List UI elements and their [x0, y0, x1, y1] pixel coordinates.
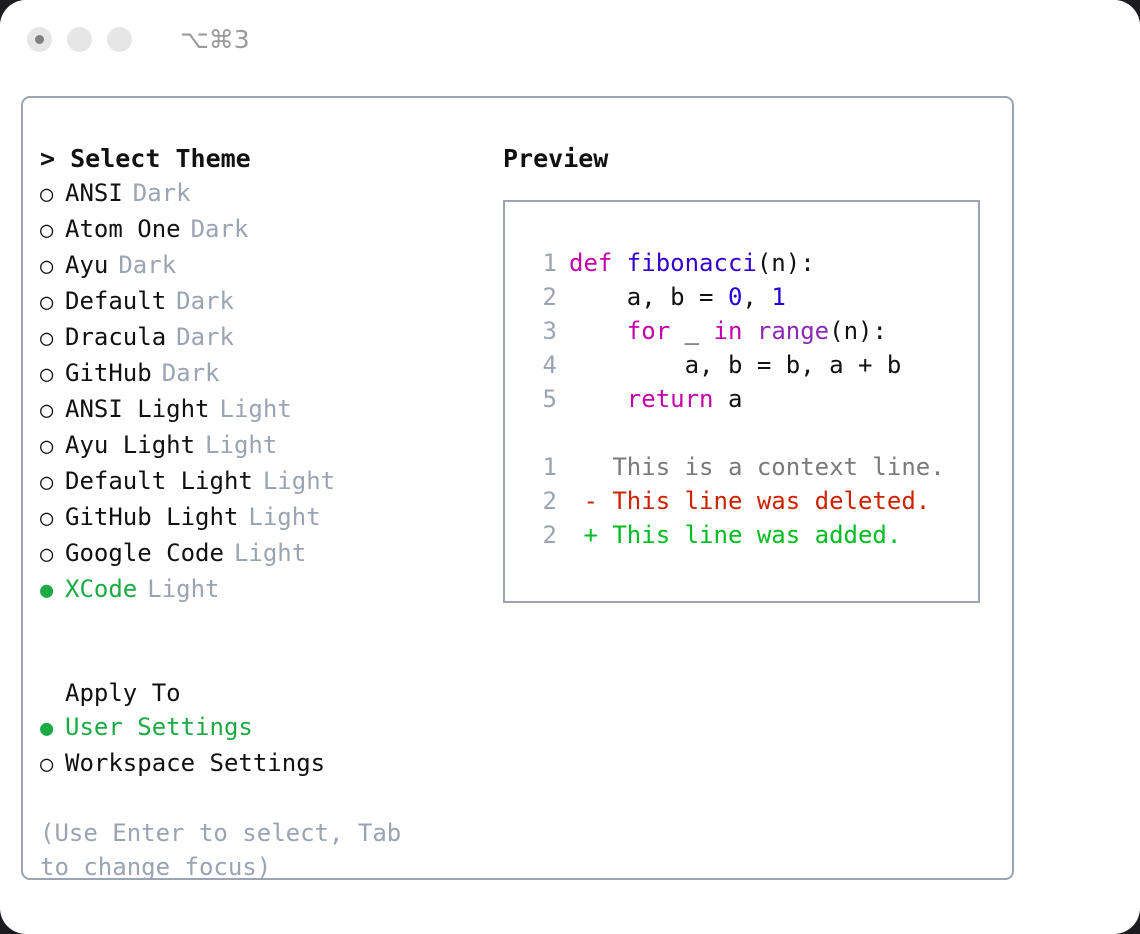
- radio-unselected-icon: ○: [40, 322, 65, 356]
- theme-name: GitHub: [65, 356, 152, 390]
- code-token: return: [627, 385, 714, 413]
- theme-kind-badge: Dark: [162, 356, 220, 390]
- theme-list-item[interactable]: ○ANSIDark: [40, 176, 503, 212]
- code-token: ,: [742, 283, 771, 311]
- code-token: _: [670, 317, 713, 345]
- code-token: (n):: [829, 317, 887, 345]
- window-dot-minimize[interactable]: [67, 27, 92, 52]
- main-panel: > Select Theme ○ANSIDark○Atom OneDark○Ay…: [21, 96, 1014, 880]
- theme-name: GitHub Light: [65, 500, 238, 534]
- window-titlebar: ⌥⌘3: [0, 0, 1140, 78]
- theme-name: Default: [65, 284, 166, 318]
- theme-kind-badge: Dark: [133, 176, 191, 210]
- radio-unselected-icon: ○: [40, 466, 65, 500]
- code-line: 4 a, b = b, a + b: [523, 348, 978, 382]
- theme-kind-badge: Light: [248, 500, 320, 534]
- code-token: 0: [728, 283, 742, 311]
- theme-kind-badge: Dark: [176, 320, 234, 354]
- theme-name: Ayu Light: [65, 428, 195, 462]
- theme-list: ○ANSIDark○Atom OneDark○AyuDark○DefaultDa…: [40, 176, 503, 608]
- preview-heading: Preview: [503, 142, 1012, 176]
- code-token: range: [757, 317, 829, 345]
- code-token: + This line was added.: [569, 521, 901, 549]
- line-number: 2: [523, 280, 557, 314]
- code-token: def: [569, 249, 627, 277]
- theme-kind-badge: Light: [263, 464, 335, 498]
- theme-list-item[interactable]: ○DefaultDark: [40, 284, 503, 320]
- line-number: 3: [523, 314, 557, 348]
- diff-sample: 1 This is a context line.2 - This line w…: [523, 450, 978, 552]
- theme-preview-box: 1def fibonacci(n):2 a, b = 0, 13 for _ i…: [503, 200, 980, 603]
- radio-selected-icon: ●: [40, 574, 65, 608]
- theme-list-item[interactable]: ○AyuDark: [40, 248, 503, 284]
- theme-name: ANSI: [65, 176, 123, 210]
- radio-unselected-icon: ○: [40, 358, 65, 392]
- line-content: def fibonacci(n):: [569, 246, 815, 280]
- code-line: 1def fibonacci(n):: [523, 246, 978, 280]
- theme-selection-column: > Select Theme ○ANSIDark○Atom OneDark○Ay…: [23, 98, 503, 878]
- line-number: 1: [523, 246, 557, 280]
- code-spacer: [523, 416, 978, 450]
- radio-unselected-icon: ○: [40, 502, 65, 536]
- line-number: 1: [523, 450, 557, 484]
- theme-list-item[interactable]: ○ANSI LightLight: [40, 392, 503, 428]
- code-token: fibonacci: [627, 249, 757, 277]
- radio-unselected-icon: ○: [40, 250, 65, 284]
- code-token: a: [714, 385, 743, 413]
- theme-list-item[interactable]: ○Ayu LightLight: [40, 428, 503, 464]
- theme-name: Default Light: [65, 464, 253, 498]
- radio-unselected-icon: ○: [40, 748, 65, 782]
- code-token: 1: [771, 283, 785, 311]
- theme-list-item[interactable]: ○DraculaDark: [40, 320, 503, 356]
- line-content: + This line was added.: [569, 518, 901, 552]
- diff-line: 2 - This line was deleted.: [523, 484, 978, 518]
- window-dot-close[interactable]: [27, 27, 52, 52]
- theme-name: Google Code: [65, 536, 224, 570]
- theme-kind-badge: Dark: [118, 248, 176, 282]
- code-line: 5 return a: [523, 382, 978, 416]
- radio-unselected-icon: ○: [40, 538, 65, 572]
- theme-kind-badge: Light: [147, 572, 219, 606]
- code-token: (n):: [757, 249, 815, 277]
- window-dot-maximize[interactable]: [107, 27, 132, 52]
- theme-name: Dracula: [65, 320, 166, 354]
- theme-name: Ayu: [65, 248, 108, 282]
- keyboard-shortcut-label: ⌥⌘3: [180, 25, 250, 54]
- theme-name: XCode: [65, 572, 137, 606]
- apply-to-option[interactable]: ○Workspace Settings: [40, 746, 503, 782]
- line-content: - This line was deleted.: [569, 484, 930, 518]
- apply-to-list: ●User Settings○Workspace Settings: [40, 710, 503, 782]
- code-token: for: [627, 317, 670, 345]
- code-token: [742, 317, 756, 345]
- theme-list-item[interactable]: ○GitHub LightLight: [40, 500, 503, 536]
- radio-selected-icon: ●: [40, 712, 65, 746]
- code-line: 3 for _ in range(n):: [523, 314, 978, 348]
- theme-kind-badge: Light: [205, 428, 277, 462]
- line-number: 2: [523, 518, 557, 552]
- theme-list-item[interactable]: ○Default LightLight: [40, 464, 503, 500]
- radio-unselected-icon: ○: [40, 178, 65, 212]
- code-token: - This line was deleted.: [569, 487, 930, 515]
- radio-unselected-icon: ○: [40, 430, 65, 464]
- radio-unselected-icon: ○: [40, 394, 65, 428]
- code-line: 2 a, b = 0, 1: [523, 280, 978, 314]
- line-number: 5: [523, 382, 557, 416]
- code-token: in: [714, 317, 743, 345]
- theme-kind-badge: Dark: [176, 284, 234, 318]
- line-content: a, b = b, a + b: [569, 348, 901, 382]
- line-number: 2: [523, 484, 557, 518]
- code-token: a, b =: [569, 283, 728, 311]
- theme-kind-badge: Dark: [191, 212, 249, 246]
- radio-unselected-icon: ○: [40, 286, 65, 320]
- theme-list-item[interactable]: ○Atom OneDark: [40, 212, 503, 248]
- line-content: a, b = 0, 1: [569, 280, 786, 314]
- apply-to-heading: Apply To: [40, 676, 503, 710]
- theme-kind-badge: Light: [220, 392, 292, 426]
- theme-list-item[interactable]: ○Google CodeLight: [40, 536, 503, 572]
- radio-unselected-icon: ○: [40, 214, 65, 248]
- line-content: for _ in range(n):: [569, 314, 887, 348]
- app-window: ⌥⌘3 > Select Theme ○ANSIDark○Atom OneDar…: [0, 0, 1140, 934]
- line-number: 4: [523, 348, 557, 382]
- apply-to-option[interactable]: ●User Settings: [40, 710, 503, 746]
- preview-column: Preview 1def fibonacci(n):2 a, b = 0, 13…: [503, 98, 1012, 878]
- line-content: return a: [569, 382, 742, 416]
- theme-name: ANSI Light: [65, 392, 210, 426]
- code-token: This is a context line.: [569, 453, 945, 481]
- diff-line: 2 + This line was added.: [523, 518, 978, 552]
- theme-list-item[interactable]: ○GitHubDark: [40, 356, 503, 392]
- theme-name: Atom One: [65, 212, 181, 246]
- theme-list-item[interactable]: ●XCodeLight: [40, 572, 503, 608]
- diff-line: 1 This is a context line.: [523, 450, 978, 484]
- code-token: [569, 385, 627, 413]
- keyboard-hint-text: (Use Enter to select, Tab to change focu…: [40, 816, 440, 884]
- code-token: a, b = b, a + b: [569, 351, 901, 379]
- apply-to-label: User Settings: [65, 710, 253, 744]
- apply-to-label: Workspace Settings: [65, 746, 325, 780]
- code-sample: 1def fibonacci(n):2 a, b = 0, 13 for _ i…: [523, 246, 978, 416]
- line-content: This is a context line.: [569, 450, 945, 484]
- theme-kind-badge: Light: [234, 536, 306, 570]
- select-theme-heading: > Select Theme: [40, 142, 503, 176]
- code-token: [569, 317, 627, 345]
